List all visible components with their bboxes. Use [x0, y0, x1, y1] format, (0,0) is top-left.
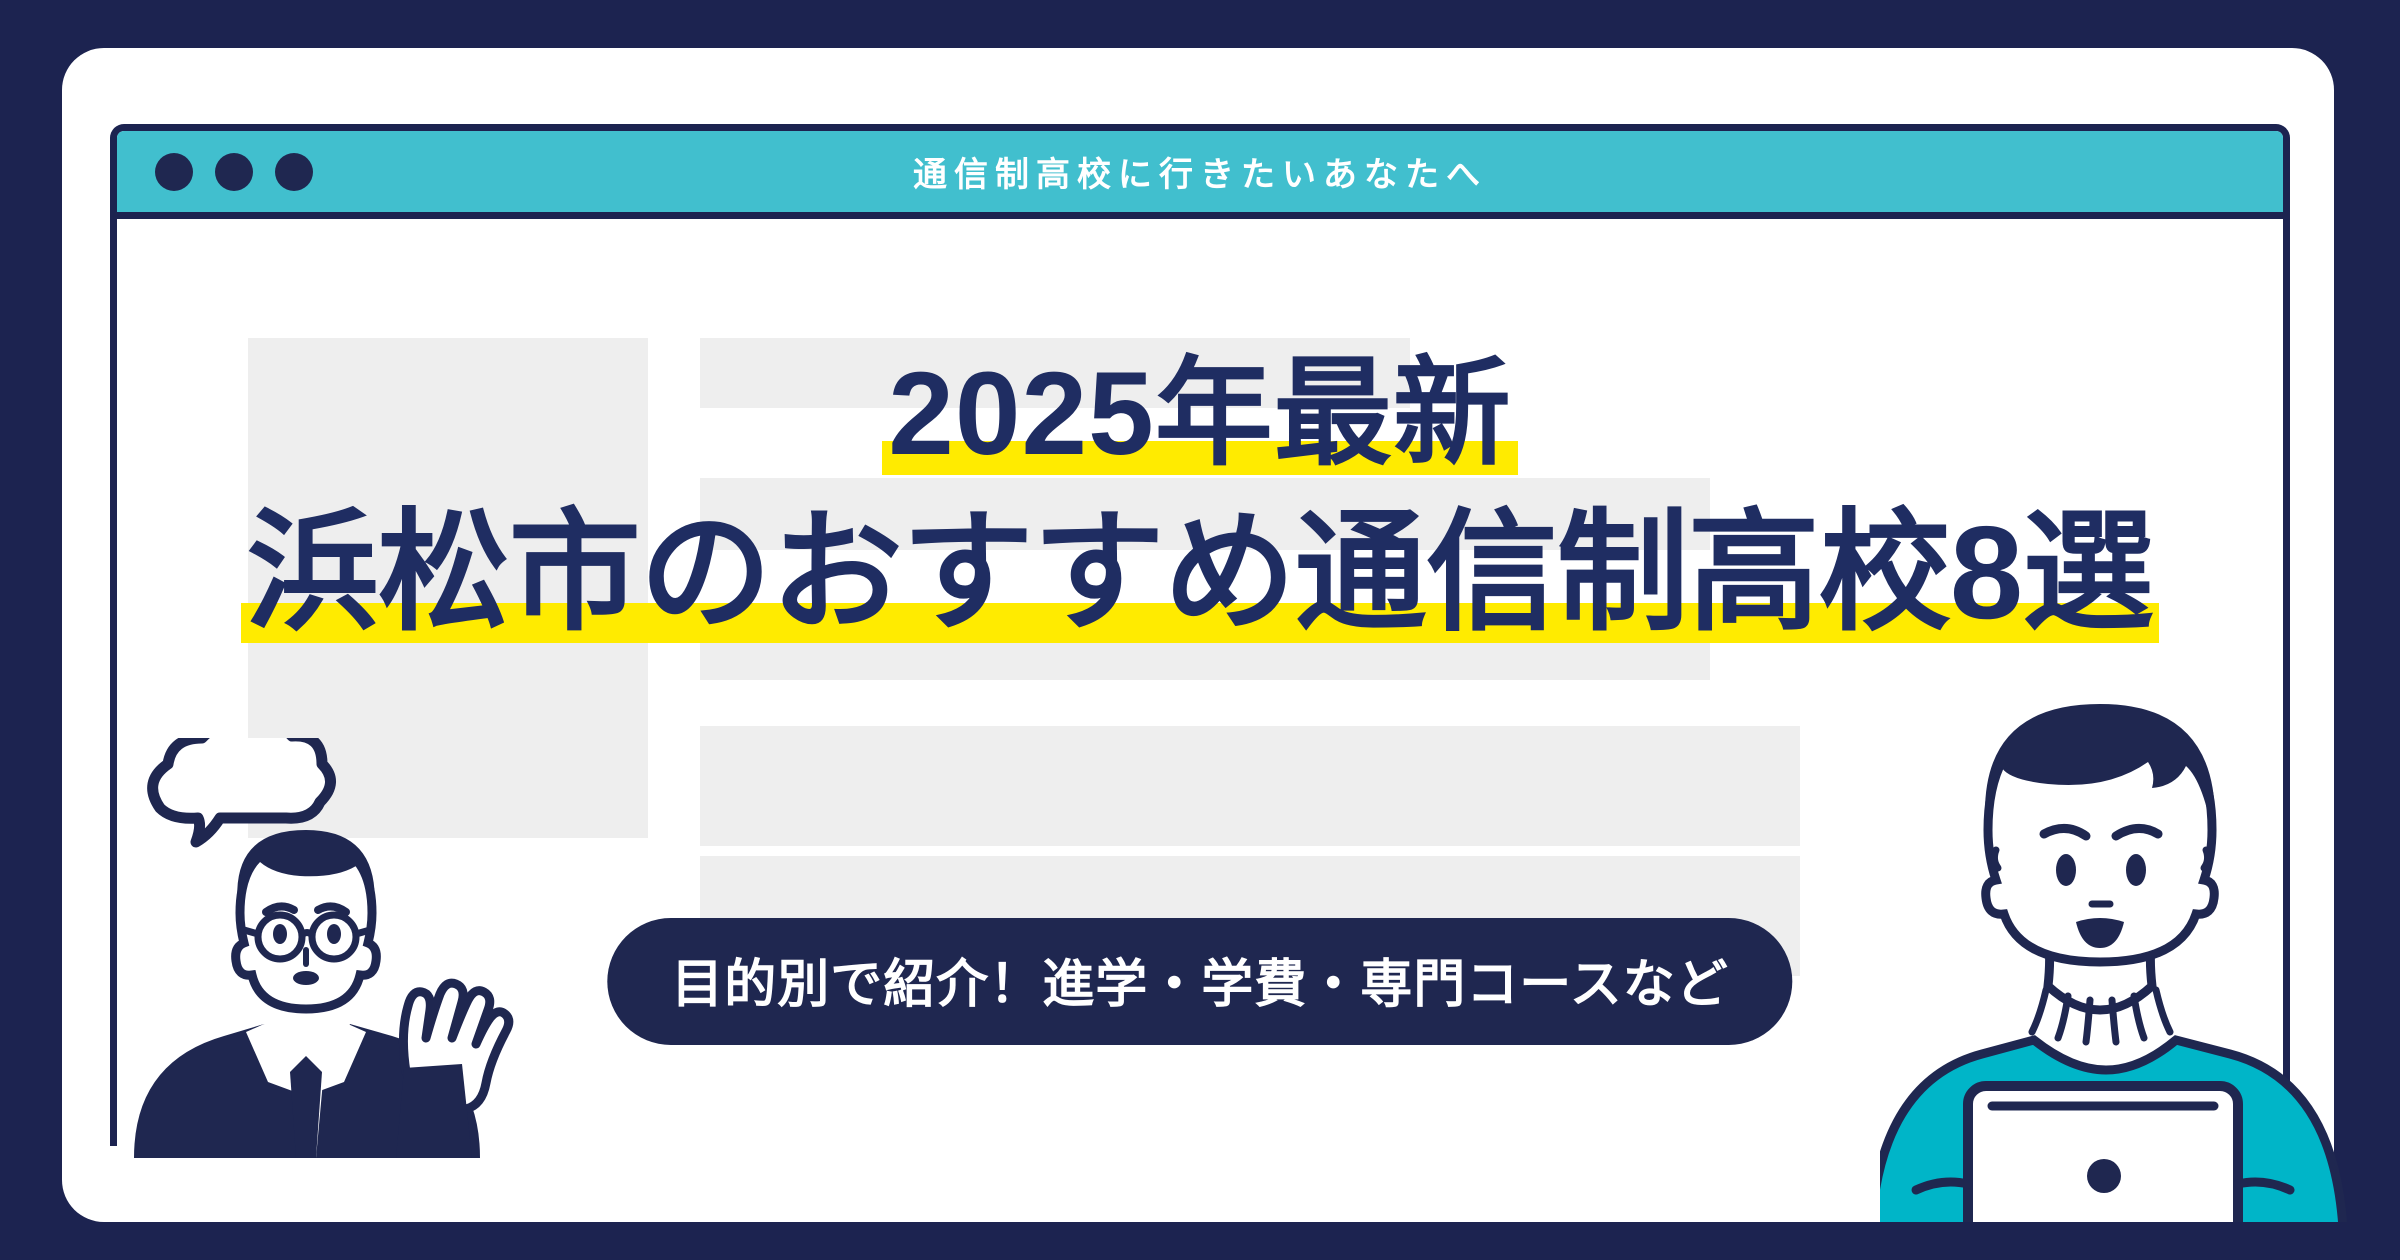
headline-line-1: 2025年最新 — [0, 352, 2400, 477]
bottom-edge — [0, 1222, 2400, 1260]
headline-line-2-text: 浜松市のおすすめ通信制高校8選 — [241, 503, 2159, 643]
headline-line-2: 浜松市のおすすめ通信制高校8選 — [0, 503, 2400, 643]
illustration-man-with-glasses — [120, 738, 540, 1158]
browser-title: 通信制高校に行きたいあなたへ — [117, 147, 2283, 196]
banner-canvas: 通信制高校に行きたいあなたへ 2025年最新 浜松市のおすすめ通信制高校8選 目… — [0, 0, 2400, 1260]
illustration-person-with-laptop — [1880, 700, 2400, 1260]
subtitle-badge: 目的別で紹介！進学・学費・専門コースなど — [607, 918, 1792, 1045]
page-title: 2025年最新 浜松市のおすすめ通信制高校8選 — [0, 352, 2400, 643]
text-block-placeholder-1 — [700, 726, 1800, 846]
man-head — [236, 830, 377, 1009]
browser-title-bar: 通信制高校に行きたいあなたへ — [117, 131, 2283, 219]
headline-line-1-text: 2025年最新 — [882, 352, 1518, 477]
